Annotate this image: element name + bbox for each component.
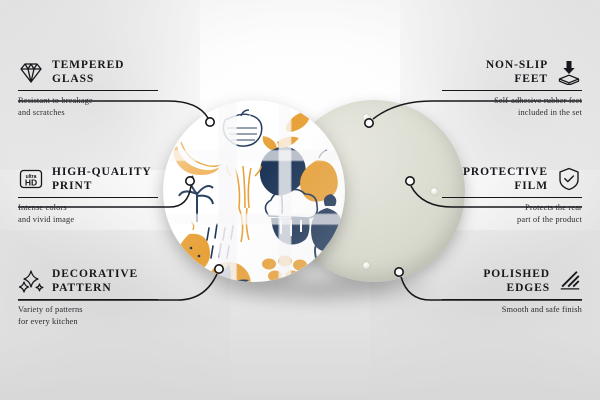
feature-desc-line2: included in the set [518, 108, 582, 117]
feature-title-line1: TEMPERED [52, 59, 124, 71]
feature-non-slip-feet: NON-SLIP FEET Self-adhesive rubber feet … [442, 58, 582, 118]
feature-description: Smooth and safe finish [442, 304, 582, 316]
sparkles-icon [18, 268, 44, 294]
feature-description: Intense colors and vivid image [18, 202, 158, 225]
feature-header: PROTECTIVE FILM [442, 165, 582, 193]
diamond-icon [18, 59, 44, 85]
feature-title-line2: PRINT [52, 179, 152, 193]
feature-divider [18, 90, 158, 91]
feature-title: NON-SLIP FEET [486, 58, 548, 86]
feature-title-line2: FILM [463, 179, 548, 193]
feature-title-line1: PROTECTIVE [463, 166, 548, 178]
infographic-canvas: TEMPERED GLASS Resistant to breakage and… [0, 0, 600, 400]
feature-title-line1: DECORATIVE [52, 268, 138, 280]
feature-title-line1: HIGH-QUALITY [52, 166, 152, 178]
feature-desc-line1: Self-adhesive rubber feet [494, 96, 582, 105]
feature-description: Protects the rear part of the product [442, 202, 582, 225]
feature-title-line1: POLISHED [483, 268, 550, 280]
feature-header: DECORATIVE PATTERN [18, 267, 158, 295]
feature-title-line1: NON-SLIP [486, 59, 548, 71]
feature-desc-line2: part of the product [517, 215, 582, 224]
feature-desc-line2: for every kitchen [18, 317, 78, 326]
feature-divider [442, 90, 582, 91]
feature-description: Self-adhesive rubber feet included in th… [442, 95, 582, 118]
feature-title: POLISHED EDGES [483, 267, 550, 295]
hatched-triangle-icon [558, 269, 582, 293]
feature-tempered-glass: TEMPERED GLASS Resistant to breakage and… [18, 58, 158, 118]
feature-title-line2: FEET [486, 72, 548, 86]
rubber-foot [431, 188, 438, 195]
feature-desc-line1: Intense colors [18, 203, 67, 212]
vegetable-pattern [163, 100, 345, 282]
feature-decorative-pattern: DECORATIVE PATTERN Variety of patterns f… [18, 267, 158, 327]
feature-title: HIGH-QUALITY PRINT [52, 165, 152, 193]
feature-title: TEMPERED GLASS [52, 58, 124, 86]
press-down-pad-icon [556, 59, 582, 85]
feature-title: DECORATIVE PATTERN [52, 267, 138, 295]
feature-title-line2: PATTERN [52, 281, 138, 295]
feature-desc-line1: Resistant to breakage [18, 96, 93, 105]
ultra-hd-icon-bottom-text: HD [25, 178, 37, 188]
feature-divider [18, 197, 158, 198]
patterned-glass-board-front [163, 100, 345, 282]
shield-check-icon [556, 166, 582, 192]
feature-desc-line1: Variety of patterns [18, 305, 83, 314]
rubber-foot [363, 262, 370, 269]
feature-header: TEMPERED GLASS [18, 58, 158, 86]
feature-divider [442, 299, 582, 300]
feature-title-line2: EDGES [483, 281, 550, 295]
feature-desc-line2: and vivid image [18, 215, 74, 224]
feature-high-quality-print: ultra HD HIGH-QUALITY PRINT Intense colo… [18, 165, 158, 225]
feature-polished-edges: POLISHED EDGES Smooth and safe finish [442, 267, 582, 316]
feature-description: Variety of patterns for every kitchen [18, 304, 158, 327]
feature-divider [18, 299, 158, 300]
feature-desc-line2: and scratches [18, 108, 65, 117]
feature-divider [442, 197, 582, 198]
feature-header: NON-SLIP FEET [442, 58, 582, 86]
feature-header: ultra HD HIGH-QUALITY PRINT [18, 165, 158, 193]
feature-title-line2: GLASS [52, 72, 124, 86]
feature-desc-line1: Protects the rear [525, 203, 582, 212]
feature-protective-film: PROTECTIVE FILM Protects the rear part o… [442, 165, 582, 225]
feature-title: PROTECTIVE FILM [463, 165, 548, 193]
feature-header: POLISHED EDGES [442, 267, 582, 295]
ultra-hd-icon: ultra HD [18, 166, 44, 192]
feature-description: Resistant to breakage and scratches [18, 95, 158, 118]
rubber-foot [363, 114, 370, 121]
feature-desc-line1: Smooth and safe finish [502, 305, 582, 314]
